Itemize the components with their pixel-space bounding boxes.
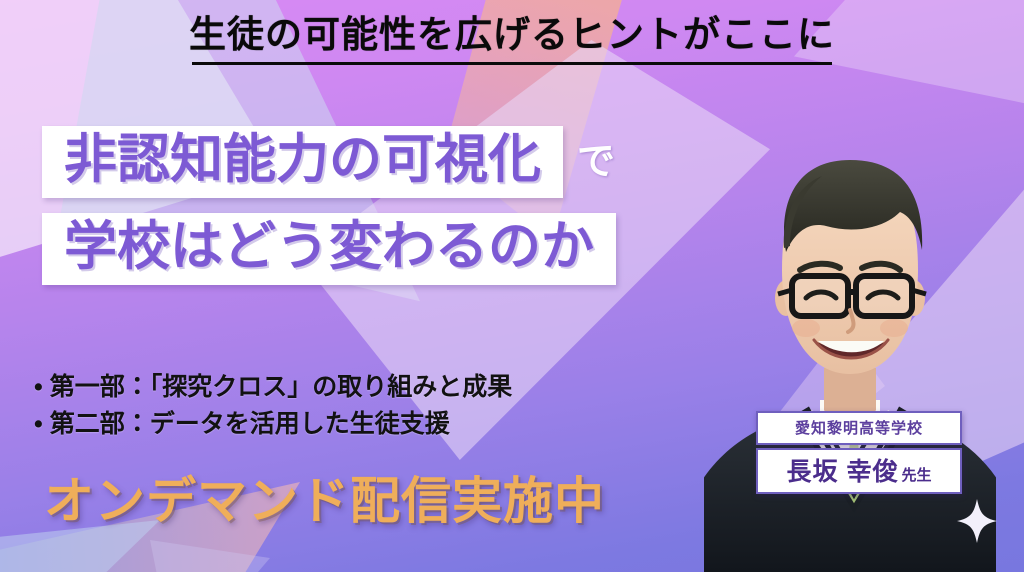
- headline-box-1: 非認知能力の可視化: [42, 126, 563, 198]
- headline-row-2: 学校はどう変わるのか: [0, 213, 740, 285]
- on-demand-callout: オンデマンド配信実施中: [44, 476, 605, 526]
- headline-text-1: 非認知能力の可視化: [64, 130, 541, 189]
- speaker-school-name: 愛知黎明高等学校: [756, 411, 962, 445]
- promo-banner: 生徒の可能性を広げるヒントがここに 非認知能力の可視化 で 学校はどう変わるのか…: [0, 0, 1024, 572]
- headline-box-2: 学校はどう変わるのか: [42, 213, 616, 285]
- speaker-honorific: 先生: [901, 467, 931, 484]
- headline-group: 非認知能力の可視化 で 学校はどう変わるのか: [0, 126, 740, 285]
- list-item-label: 第二部：データを活用した生徒支援: [50, 409, 450, 440]
- speaker-name: 長坂 幸俊: [787, 458, 899, 486]
- session-bullet-list: • 第一部：「探究クロス」の取り組みと成果 • 第二部：データを活用した生徒支援: [34, 372, 512, 439]
- headline-suffix-de: で: [577, 143, 615, 181]
- speaker-name-row: 長坂 幸俊先生: [756, 448, 962, 494]
- speaker-portrait-photo: [704, 142, 996, 572]
- bullet-marker-icon: •: [34, 409, 43, 440]
- background-ray-faint-bottomcenter: [150, 540, 270, 572]
- header-title: 生徒の可能性を広げるヒントがここに: [189, 14, 835, 55]
- headline-row-1: 非認知能力の可視化 で: [0, 126, 740, 198]
- headline-text-2: 学校はどう変わるのか: [64, 217, 594, 276]
- speaker-nameplate: 愛知黎明高等学校 長坂 幸俊先生: [756, 411, 962, 494]
- list-item-label: 第一部：「探究クロス」の取り組みと成果: [50, 372, 513, 403]
- bullet-marker-icon: •: [34, 372, 43, 403]
- list-item: • 第一部：「探究クロス」の取り組みと成果: [34, 372, 512, 403]
- header: 生徒の可能性を広げるヒントがここに: [0, 14, 1024, 65]
- header-underline-divider: [192, 62, 832, 65]
- four-point-star-icon: [956, 498, 998, 544]
- list-item: • 第二部：データを活用した生徒支援: [34, 409, 512, 440]
